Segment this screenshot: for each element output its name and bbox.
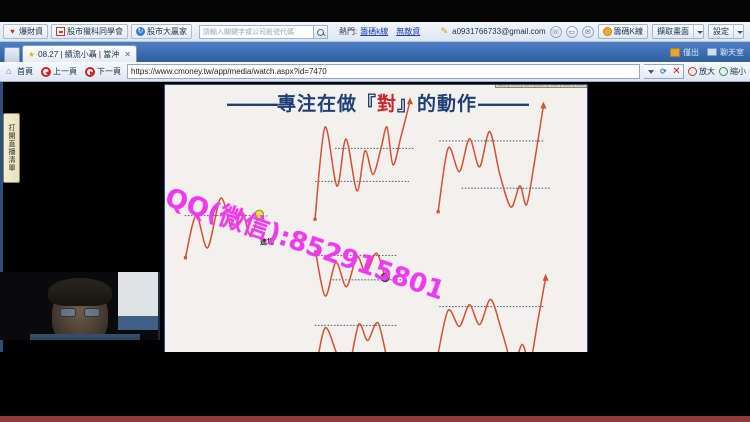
home-label: 首頁: [17, 66, 33, 77]
price-line: [438, 106, 543, 212]
zoom-out-label: 縮小: [730, 66, 746, 77]
price-line: [185, 198, 259, 258]
toolbar-button-stock-winner[interactable]: ↻ 股市大贏家: [131, 24, 192, 39]
letterbox-top: [0, 0, 750, 22]
forward-button[interactable]: 下一頁: [83, 66, 123, 77]
zoom-out-icon: [719, 67, 728, 76]
tab-placeholder[interactable]: [4, 47, 20, 62]
kline-dot-icon: [603, 27, 612, 36]
chat-bubble-icon[interactable]: ▭: [566, 26, 578, 38]
chatroom-button[interactable]: 聊天室: [707, 47, 744, 58]
home-icon: ⌂: [6, 67, 15, 76]
entry-label: 進場: [260, 237, 274, 247]
close-icon[interactable]: ✕: [124, 50, 131, 59]
panel-top-middle-breakout: [313, 97, 415, 221]
price-line: [315, 101, 410, 219]
heart-icon: ♥: [8, 27, 17, 36]
entry-marker-icon: [255, 210, 263, 218]
dropdown-icon[interactable]: [644, 65, 657, 78]
chevron-down-icon[interactable]: [693, 25, 703, 38]
toolbar-button-stock-winner-label: 股市大贏家: [147, 28, 187, 36]
chart-panels: XX: [165, 85, 588, 390]
panel-entry-left: [184, 198, 264, 259]
zoom-in-icon: [688, 67, 697, 76]
home-button[interactable]: ⌂ 首頁: [4, 66, 35, 77]
zoom-in-button[interactable]: 放大: [688, 66, 715, 77]
start-marker: [437, 210, 440, 213]
screen-root: ♥ 爆財資 股市獵科同學會 ↻ 股市大贏家 請輸入關鍵字或公司股號代碼 熱門: …: [0, 0, 750, 422]
browser-tab-active[interactable]: ★ 08.27 | 績流小聶 | 當沖 ✕: [22, 45, 137, 62]
settings-button[interactable]: 設定: [708, 24, 744, 39]
stop-icon[interactable]: ✕: [670, 65, 683, 78]
address-bar[interactable]: https://www.cmoney.tw/app/media/watch.as…: [127, 64, 640, 79]
back-button[interactable]: 上一頁: [39, 66, 79, 77]
hot-link-invincible[interactable]: 無敵資: [396, 26, 420, 37]
chat-icon: [707, 48, 717, 56]
chatroom-label: 聊天室: [720, 47, 744, 58]
capture-button-label: 擷取畫面: [653, 25, 693, 38]
arrow-up-icon: [543, 274, 549, 281]
logout-button[interactable]: 僅出: [670, 47, 699, 58]
panel-top-right-breakout: [437, 102, 552, 214]
capture-button[interactable]: 擷取畫面: [652, 24, 704, 39]
pen-icon: ✎: [441, 26, 449, 37]
refresh-page-icon[interactable]: ⟳: [657, 65, 670, 78]
square-icon: [56, 27, 65, 36]
kline-button[interactable]: 籌碼K線: [598, 24, 648, 39]
start-marker: [184, 256, 187, 259]
envelope-icon[interactable]: ✉: [582, 26, 594, 38]
hot-link-kline[interactable]: 籌碼k線: [360, 26, 388, 37]
kline-button-label: 籌碼K線: [614, 26, 643, 37]
star-icon: ★: [28, 50, 35, 59]
browser-tab-title: 08.27 | 績流小聶 | 當沖: [38, 49, 119, 60]
chevron-down-icon-2[interactable]: [733, 25, 743, 38]
price-line: [316, 252, 386, 296]
logout-label: 僅出: [683, 47, 699, 58]
hot-label: 熱門:: [339, 26, 357, 37]
settings-button-label: 設定: [709, 25, 733, 38]
toolbar-right-group: ✎ a0931766733@gmail.com ☏ ▭ ✉ 籌碼K線 擷取畫面 …: [441, 24, 747, 39]
arrow-up-icon: [407, 97, 413, 104]
refresh-icon: ↻: [136, 27, 145, 36]
navigation-bar: ⌂ 首頁 上一頁 下一頁 https://www.cmoney.tw/app/m…: [0, 62, 750, 82]
search-icon[interactable]: [314, 25, 328, 39]
browser-tabstrip: ★ 08.27 | 績流小聶 | 當沖 ✕ 僅出 聊天室: [0, 42, 750, 62]
search-input[interactable]: 請輸入關鍵字或公司股號代碼: [199, 25, 314, 39]
forward-label: 下一頁: [97, 66, 121, 77]
logout-icon: [670, 48, 680, 57]
forward-arrow-icon: [85, 67, 95, 77]
toolbar-button-stock-club[interactable]: 股市獵科同學會: [51, 24, 128, 39]
panel-middle-fail: X: [314, 250, 403, 296]
toolbar-button-wealth-label: 爆財資: [19, 28, 43, 36]
zoom-in-label: 放大: [699, 66, 715, 77]
sidebar-item-open-stream-list[interactable]: 打開直播清單: [3, 113, 20, 183]
arrow-up-icon: [540, 102, 546, 109]
back-arrow-icon: [41, 67, 51, 77]
search-area: 請輸入關鍵字或公司股號代碼: [199, 25, 328, 39]
tabstrip-right-group: 僅出 聊天室: [670, 42, 750, 62]
toolbar-button-wealth[interactable]: ♥ 爆財資: [3, 24, 48, 39]
presentation-slide: 檔案 常用 插入 設計 切換 動畫 校閱 ———專注在做『對』的動作——— XX…: [164, 84, 588, 390]
start-marker: [314, 250, 317, 253]
zoom-out-button[interactable]: 縮小: [719, 66, 746, 77]
back-label: 上一頁: [53, 66, 77, 77]
bottom-red-strip: [0, 416, 750, 422]
headset-icon[interactable]: ☏: [550, 26, 562, 38]
webcam-border: [0, 272, 160, 340]
app-toolbar: ♥ 爆財資 股市獵科同學會 ↻ 股市大贏家 請輸入關鍵字或公司股號代碼 熱門: …: [0, 22, 750, 42]
start-marker: [313, 218, 316, 221]
webcam-feed[interactable]: [0, 272, 160, 340]
toolbar-button-stock-club-label: 股市獵科同學會: [67, 28, 123, 36]
account-email[interactable]: a0931766733@gmail.com: [452, 27, 546, 36]
address-bar-controls: ⟳ ✕: [644, 64, 684, 79]
letterbox-bottom: [0, 352, 750, 422]
